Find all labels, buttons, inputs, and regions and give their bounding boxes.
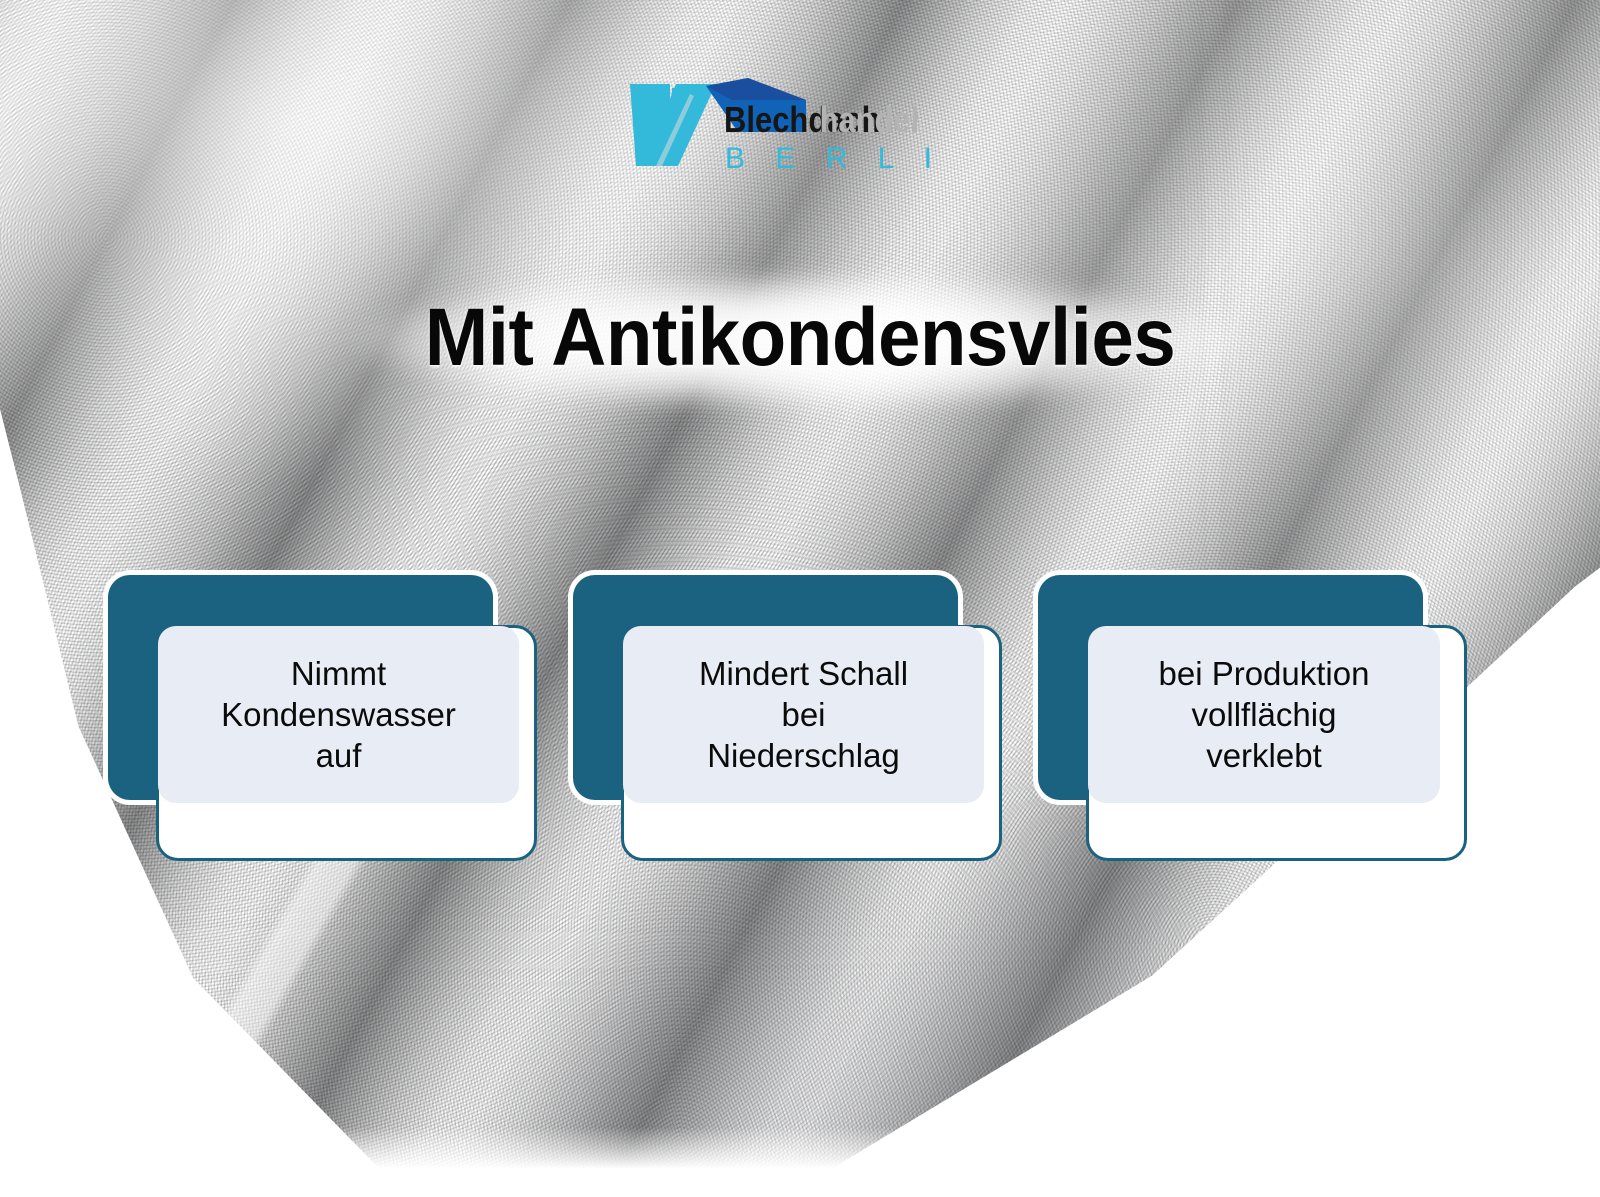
feature-card[interactable]: bei Produktion vollflächig verklebt bbox=[1038, 575, 1423, 855]
feature-card-panel: Mindert Schall bei Niederschlag bbox=[623, 626, 984, 803]
logo-text-city: B E R L I N bbox=[725, 142, 930, 175]
feature-card-panel: bei Produktion vollflächig verklebt bbox=[1088, 626, 1440, 803]
brand-logo[interactable]: Blechdach handel B E R L I N bbox=[620, 70, 930, 180]
feature-card-frontplate[interactable]: bei Produktion vollflächig verklebt bbox=[1086, 625, 1467, 861]
feature-card[interactable]: Mindert Schall bei Niederschlag bbox=[573, 575, 958, 855]
logo-v-mark bbox=[630, 84, 716, 166]
feature-card[interactable]: Nimmt Kondenswasser auf bbox=[108, 575, 493, 855]
feature-card-frontplate[interactable]: Mindert Schall bei Niederschlag bbox=[621, 625, 1002, 861]
promo-graphic: Blechdach handel B E R L I N Mit Antikon… bbox=[0, 0, 1600, 1197]
page-title: Mit Antikondensvlies bbox=[56, 286, 1544, 390]
logo-text-secondary: handel bbox=[820, 101, 920, 141]
feature-card-text: Mindert Schall bei Niederschlag bbox=[699, 653, 908, 776]
headline-block: Mit Antikondensvlies bbox=[0, 286, 1600, 396]
feature-card-text: bei Produktion vollflächig verklebt bbox=[1159, 653, 1370, 776]
feature-card-frontplate[interactable]: Nimmt Kondenswasser auf bbox=[156, 625, 537, 861]
feature-card-text: Nimmt Kondenswasser auf bbox=[221, 653, 456, 776]
sheet-cutout-bottom bbox=[0, 1127, 1600, 1197]
feature-card-panel: Nimmt Kondenswasser auf bbox=[158, 626, 519, 803]
